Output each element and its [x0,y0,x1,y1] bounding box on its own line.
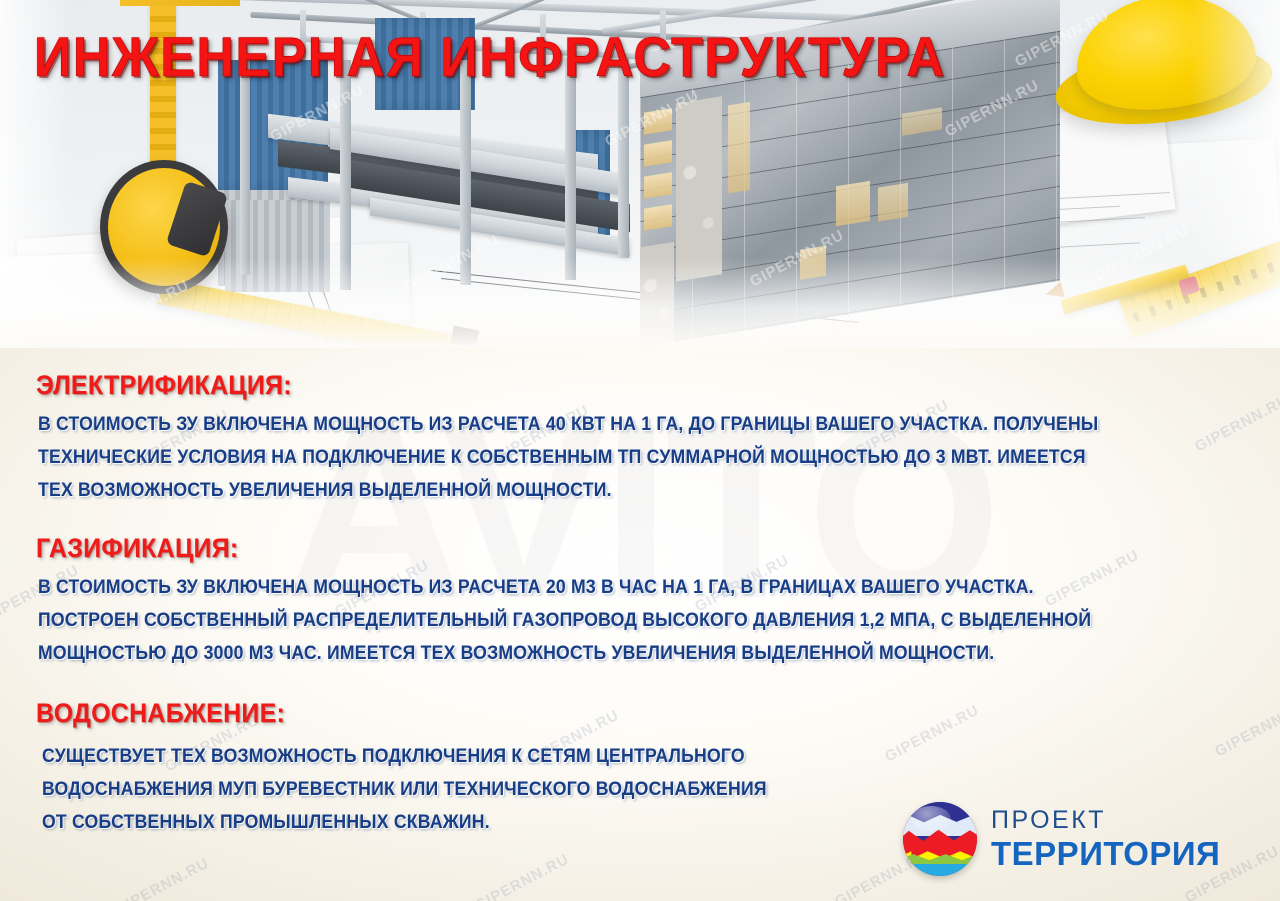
section-line: В СТОИМОСТЬ ЗУ ВКЛЮЧЕНА МОЩНОСТЬ ИЗ РАСЧ… [38,571,1091,604]
section-line: ТЕХ ВОЗМОЖНОСТЬ УВЕЛИЧЕНИЯ ВЫДЕЛЕННОЙ МО… [38,474,1098,507]
globe-band-cyan [903,864,977,876]
watermark-text: GIPERNN.RU [1212,697,1280,761]
section-gasification: ГАЗИФИКАЦИЯ: В СТОИМОСТЬ ЗУ ВКЛЮЧЕНА МОЩ… [36,533,256,563]
lit-window [878,183,908,222]
section-body-gasification: В СТОИМОСТЬ ЗУ ВКЛЮЧЕНА МОЩНОСТЬ ИЗ РАСЧ… [38,571,1170,670]
brand-name-bottom: ТЕРРИТОРИЯ [991,837,1220,870]
section-line: МОЩНОСТЬЮ ДО 3000 М3 ЧАС. ИМЕЕТСЯ ТЕХ ВО… [38,637,1091,670]
brand-logo[interactable]: ПРОЕКТ ТЕРРИТОРИЯ [903,793,1243,885]
section-body-water-supply: СУЩЕСТВУЕТ ТЕХ ВОЗМОЖНОСТЬ ПОДКЛЮЧЕНИЯ К… [42,740,821,839]
globe-gloss [911,806,951,832]
section-line: ОТ СОБСТВЕННЫХ ПРОМЫШЛЕННЫХ СКВАЖИН. [42,806,767,839]
lit-window [644,172,672,198]
lit-window [644,108,672,134]
crane-icon [120,0,240,6]
structural-column [618,58,629,258]
photo-bottom-fade [0,258,1280,348]
watermark-text: GIPERNN.RU [882,702,982,766]
poster-page: GIPERNN.RU GIPERNN.RU GIPERNN.RU GIPERNN… [0,0,1280,901]
structural-column [460,60,471,285]
lit-window [644,204,672,230]
section-body-electrification: В СТОИМОСТЬ ЗУ ВКЛЮЧЕНА МОЩНОСТЬ ИЗ РАСЧ… [38,408,1178,507]
watermark-text: GIPERNN.RU [472,851,572,901]
section-line: СУЩЕСТВУЕТ ТЕХ ВОЗМОЖНОСТЬ ПОДКЛЮЧЕНИЯ К… [42,740,767,773]
section-electrification: ЭЛЕКТРИФИКАЦИЯ: В СТОИМОСТЬ ЗУ ВКЛЮЧЕНА … [36,370,314,400]
page-title: ИНЖЕНЕРНАЯ ИНФРАСТРУКТУРА [34,26,946,88]
section-line: ВОДОСНАБЖЕНИЯ МУП БУРЕВЕСТНИК ИЛИ ТЕХНИЧ… [42,773,767,806]
section-heading-gasification: ГАЗИФИКАЦИЯ: [36,533,239,563]
section-water-supply: ВОДОСНАБЖЕНИЕ: СУЩЕСТВУЕТ ТЕХ ВОЗМОЖНОСТ… [36,698,307,728]
structural-column [565,58,576,280]
brand-name-top: ПРОЕКТ [991,808,1220,833]
section-heading-electrification: ЭЛЕКТРИФИКАЦИЯ: [36,370,292,400]
globe-logo-icon [903,802,977,876]
lit-window [728,102,750,193]
watermark-text: GIPERNN.RU [112,855,212,901]
structural-column [340,60,351,290]
lit-window [644,140,672,166]
banner-photo: GIPERNN.RU GIPERNN.RU GIPERNN.RU GIPERNN… [0,0,1280,348]
stone-panel [676,96,722,281]
brand-logo-text: ПРОЕКТ ТЕРРИТОРИЯ [991,808,1220,870]
watermark-text: GIPERNN.RU [1192,392,1280,456]
lit-window [836,181,870,226]
section-line: ТЕХНИЧЕСКИЕ УСЛОВИЯ НА ПОДКЛЮЧЕНИЕ К СОБ… [38,441,1098,474]
structural-column [240,60,250,275]
section-line: В СТОИМОСТЬ ЗУ ВКЛЮЧЕНА МОЩНОСТЬ ИЗ РАСЧ… [38,408,1098,441]
section-line: ПОСТРОЕН СОБСТВЕННЫЙ РАСПРЕДЕЛИТЕЛЬНЫЙ Г… [38,604,1091,637]
section-heading-water-supply: ВОДОСНАБЖЕНИЕ: [36,698,285,728]
